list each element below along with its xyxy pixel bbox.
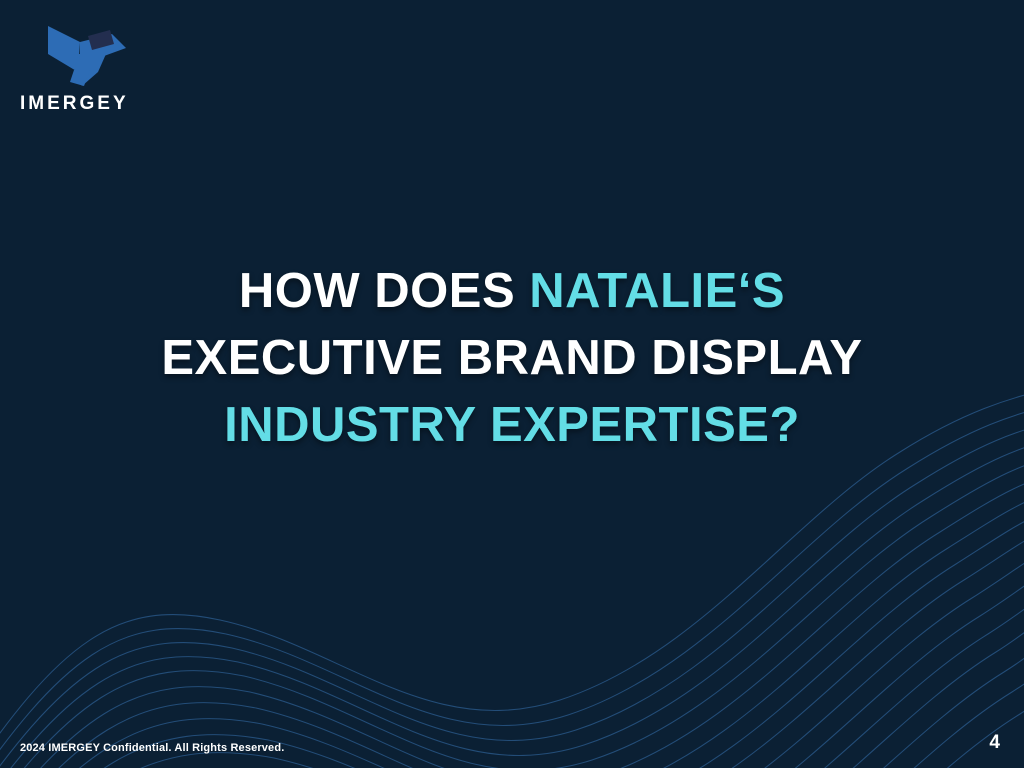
headline-line-1: HOW DOES NATALIE‘S (60, 258, 964, 325)
headline-line-1-white: HOW DOES (239, 264, 529, 318)
slide-canvas: IMERGEY HOW DOES NATALIE‘S EXECUTIVE BRA… (0, 0, 1024, 768)
headline-line-1-cyan: NATALIE‘S (529, 264, 785, 318)
imergey-dove-icon (40, 20, 130, 88)
headline-line-3: INDUSTRY EXPERTISE? (60, 392, 964, 459)
headline-line-2: EXECUTIVE BRAND DISPLAY (60, 325, 964, 392)
brand-logo: IMERGEY (20, 20, 200, 113)
copyright-notice: 2024 IMERGEY Confidential. All Rights Re… (20, 742, 284, 754)
brand-wordmark: IMERGEY (20, 94, 200, 113)
slide-headline: HOW DOES NATALIE‘S EXECUTIVE BRAND DISPL… (0, 258, 1024, 459)
page-number: 4 (989, 733, 1000, 752)
